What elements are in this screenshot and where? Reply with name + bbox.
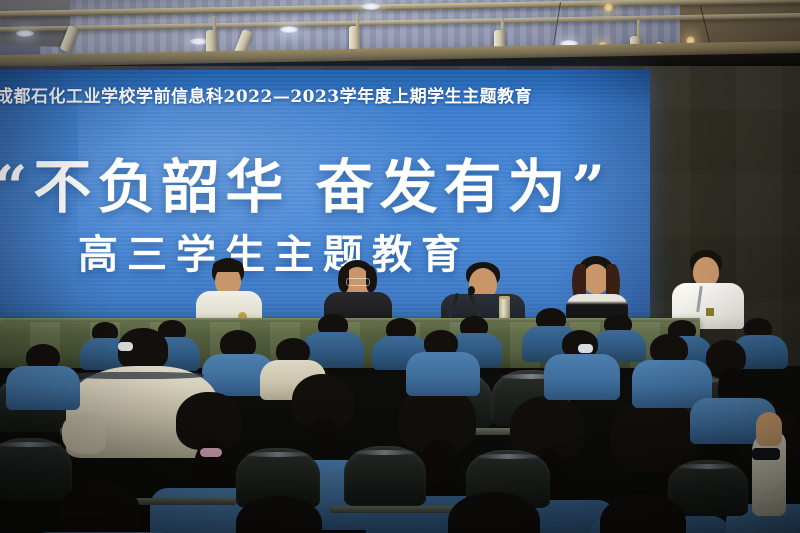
face-mask — [578, 344, 593, 353]
collar-stripe — [68, 372, 204, 379]
panelist-hair-top — [213, 259, 243, 272]
banner-main-title: “不负韶华 奋发有为” — [0, 140, 614, 224]
ceiling-pinlight — [604, 3, 613, 12]
auditorium-seat — [344, 446, 426, 506]
ceiling-wood-left — [0, 0, 70, 47]
hair-tie — [200, 448, 222, 457]
ceiling — [0, 0, 800, 72]
student-arm — [62, 414, 106, 454]
banner-header-text: 成都石化工业学校学前信息科2022—2023学年度上期学生主题教育 — [0, 82, 536, 107]
ceiling-downlight — [280, 26, 298, 33]
ceiling-downlight — [362, 3, 380, 10]
track-spotlight — [64, 26, 75, 52]
panelist-glasses — [346, 278, 370, 286]
wristwatch — [752, 448, 780, 460]
auditorium-photo: 成都石化工业学校学前信息科2022—2023学年度上期学生主题教育 “不负韶华 … — [0, 0, 800, 533]
face-mask — [118, 342, 133, 351]
auditorium-seat — [0, 438, 72, 500]
microphone-head — [468, 286, 475, 295]
ceiling-downlight — [16, 30, 34, 37]
student-hand — [756, 412, 782, 446]
audience-area — [0, 300, 800, 533]
